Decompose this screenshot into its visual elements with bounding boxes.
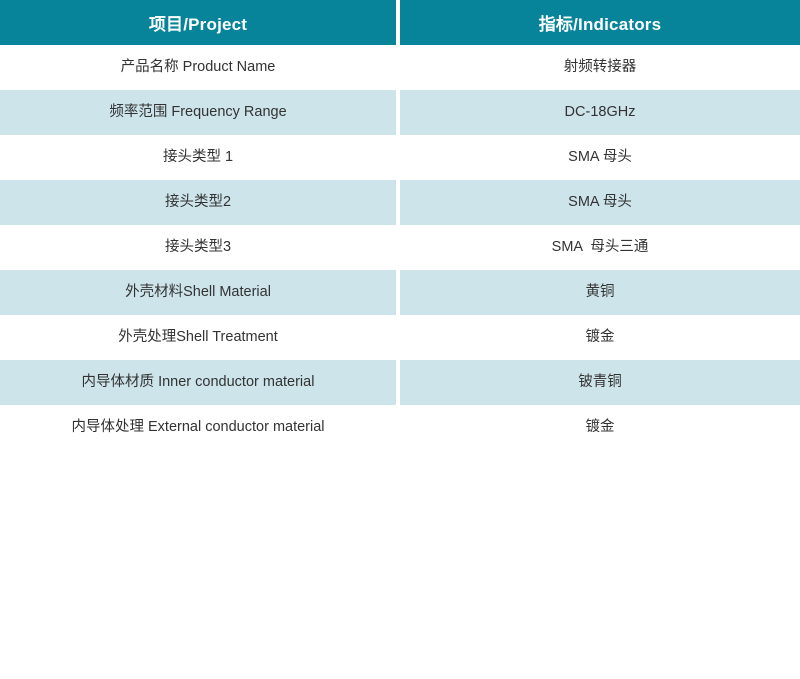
table-cell-project-text: 接头类型 1 [163, 149, 233, 166]
table-cell-project: 外壳材料Shell Material [0, 270, 400, 315]
table-cell-project: 内导体处理 External conductor material [0, 405, 400, 450]
table-row: 接头类型2 SMA 母头 [0, 180, 800, 225]
product-specification-table: 项目/Project 指标/Indicators 产品名称 Product Na… [0, 0, 800, 450]
table-row: 频率范围 Frequency Range DC-18GHz [0, 90, 800, 135]
table-row: 接头类型3 SMA 母头三通 [0, 225, 800, 270]
table-cell-project: 接头类型 1 [0, 135, 400, 180]
table-cell-indicator-text: DC-18GHz [565, 104, 636, 121]
table-cell-project-text: 产品名称 Product Name [121, 59, 276, 76]
table-cell-indicator-text: SMA 母头三通 [552, 239, 649, 256]
table-row: 内导体材质 Inner conductor material 铍青铜 [0, 360, 800, 405]
table-cell-indicator-text: 射频转接器 [564, 59, 637, 76]
table-cell-indicator: 镀金 [400, 315, 800, 360]
column-header-project: 项目/Project [0, 0, 400, 45]
table-cell-project: 频率范围 Frequency Range [0, 90, 400, 135]
table-cell-project-text: 接头类型3 [165, 239, 231, 256]
table-cell-indicator-text: SMA 母头 [568, 194, 632, 211]
table-cell-project: 内导体材质 Inner conductor material [0, 360, 400, 405]
table-header: 项目/Project 指标/Indicators [0, 0, 800, 45]
table-cell-indicator: 黄铜 [400, 270, 800, 315]
column-header-indicators: 指标/Indicators [400, 0, 800, 45]
table-cell-project-text: 内导体材质 Inner conductor material [82, 374, 315, 391]
table-row: 内导体处理 External conductor material 镀金 [0, 405, 800, 450]
table-body: 产品名称 Product Name 射频转接器 频率范围 Frequency R… [0, 45, 800, 450]
table-cell-project: 接头类型2 [0, 180, 400, 225]
table-cell-project-text: 接头类型2 [165, 194, 231, 211]
table-header-row: 项目/Project 指标/Indicators [0, 0, 800, 45]
table-cell-indicator: DC-18GHz [400, 90, 800, 135]
table-cell-indicator-text: 铍青铜 [578, 374, 622, 391]
column-header-project-label: 项目/Project [149, 10, 247, 35]
table-cell-project-text: 内导体处理 External conductor material [71, 419, 324, 436]
table-row: 外壳材料Shell Material 黄铜 [0, 270, 800, 315]
table-cell-indicator-text: 镀金 [586, 329, 615, 346]
table-row: 产品名称 Product Name 射频转接器 [0, 45, 800, 90]
table-cell-indicator: SMA 母头 [400, 180, 800, 225]
table-cell-indicator: 铍青铜 [400, 360, 800, 405]
table-cell-indicator: 镀金 [400, 405, 800, 450]
table-cell-project: 产品名称 Product Name [0, 45, 400, 90]
table-cell-project: 接头类型3 [0, 225, 400, 270]
table-cell-project-text: 外壳材料Shell Material [125, 284, 271, 301]
table-row: 外壳处理Shell Treatment 镀金 [0, 315, 800, 360]
table-cell-indicator-text: 黄铜 [586, 284, 615, 301]
table-cell-indicator-text: 镀金 [586, 419, 615, 436]
table-cell-indicator: SMA 母头三通 [400, 225, 800, 270]
table-cell-project-text: 频率范围 Frequency Range [109, 104, 286, 121]
table-cell-project: 外壳处理Shell Treatment [0, 315, 400, 360]
table-cell-project-text: 外壳处理Shell Treatment [118, 329, 278, 346]
column-header-indicators-label: 指标/Indicators [539, 10, 662, 35]
table-cell-indicator-text: SMA 母头 [568, 149, 632, 166]
table-cell-indicator: 射频转接器 [400, 45, 800, 90]
table-cell-indicator: SMA 母头 [400, 135, 800, 180]
table-row: 接头类型 1 SMA 母头 [0, 135, 800, 180]
